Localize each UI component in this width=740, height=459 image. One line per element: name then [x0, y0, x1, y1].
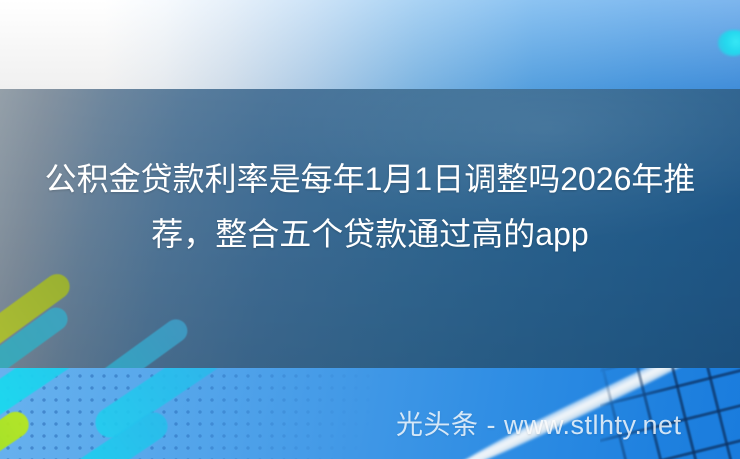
sky-gradient-band — [0, 0, 740, 89]
headline-text: 公积金贷款利率是每年1月1日调整吗2026年推荐，整合五个贷款通过高的app — [37, 152, 703, 262]
cyan-blob-icon — [718, 30, 740, 56]
halftone-dot-pattern — [0, 368, 410, 459]
watermark-text: 光头条 - www.stlhty.net — [396, 409, 682, 441]
banner-image: 公积金贷款利率是每年1月1日调整吗2026年推荐，整合五个贷款通过高的app 光… — [0, 0, 740, 459]
